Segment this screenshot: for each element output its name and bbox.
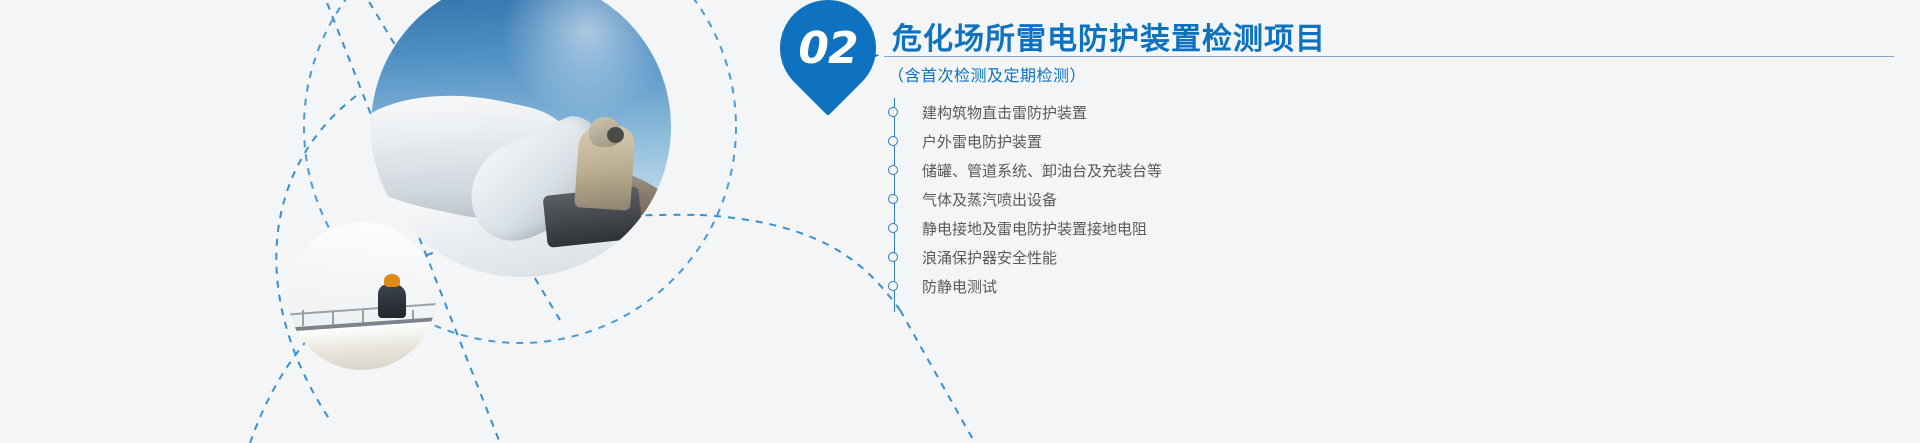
secondary-photo-railing-post (302, 310, 304, 326)
list-item: 户外雷电防护装置 (888, 127, 1508, 156)
timeline-dot-icon (888, 136, 898, 146)
badge-number: 02 (780, 0, 876, 96)
secondary-photo-helmet (384, 274, 400, 287)
section-subtitle: （含首次检测及定期检测） (888, 62, 1086, 86)
timeline-dot-icon (888, 107, 898, 117)
timeline-dot-icon (888, 252, 898, 262)
list-item: 建构筑物直击雷防护装置 (888, 98, 1508, 127)
timeline-dot-icon (888, 223, 898, 233)
timeline-dot-icon (888, 165, 898, 175)
timeline-dot-icon (888, 281, 898, 291)
section-title: 危化场所雷电防护装置检测项目 (892, 14, 1326, 58)
title-divider (884, 56, 1894, 57)
list-item-label: 户外雷电防护装置 (922, 131, 1042, 152)
section-number-badge: 02 (780, 0, 876, 96)
list-item: 浪涌保护器安全性能 (888, 243, 1508, 272)
content-panel: 02 危化场所雷电防护装置检测项目 （含首次检测及定期检测） 建构筑物直击雷防护… (780, 0, 1920, 443)
list-item-label: 储罐、管道系统、卸油台及充装台等 (922, 160, 1162, 181)
secondary-photo-worker (378, 284, 406, 318)
service-item-timeline: 建构筑物直击雷防护装置 户外雷电防护装置 储罐、管道系统、卸油台及充装台等 气体… (888, 98, 1508, 301)
secondary-photo (288, 222, 436, 370)
list-item: 静电接地及雷电防护装置接地电阻 (888, 214, 1508, 243)
list-item: 气体及蒸汽喷出设备 (888, 185, 1508, 214)
list-item-label: 静电接地及雷电防护装置接地电阻 (922, 218, 1147, 239)
list-item: 防静电测试 (888, 272, 1508, 301)
list-item-label: 建构筑物直击雷防护装置 (922, 102, 1087, 123)
list-item-label: 防静电测试 (922, 276, 997, 297)
timeline-dot-icon (888, 194, 898, 204)
list-item-label: 气体及蒸汽喷出设备 (922, 189, 1057, 210)
banner: 02 危化场所雷电防护装置检测项目 （含首次检测及定期检测） 建构筑物直击雷防护… (0, 0, 1920, 443)
list-item-label: 浪涌保护器安全性能 (922, 247, 1057, 268)
photo-worker-visor (607, 127, 624, 143)
list-item: 储罐、管道系统、卸油台及充装台等 (888, 156, 1508, 185)
